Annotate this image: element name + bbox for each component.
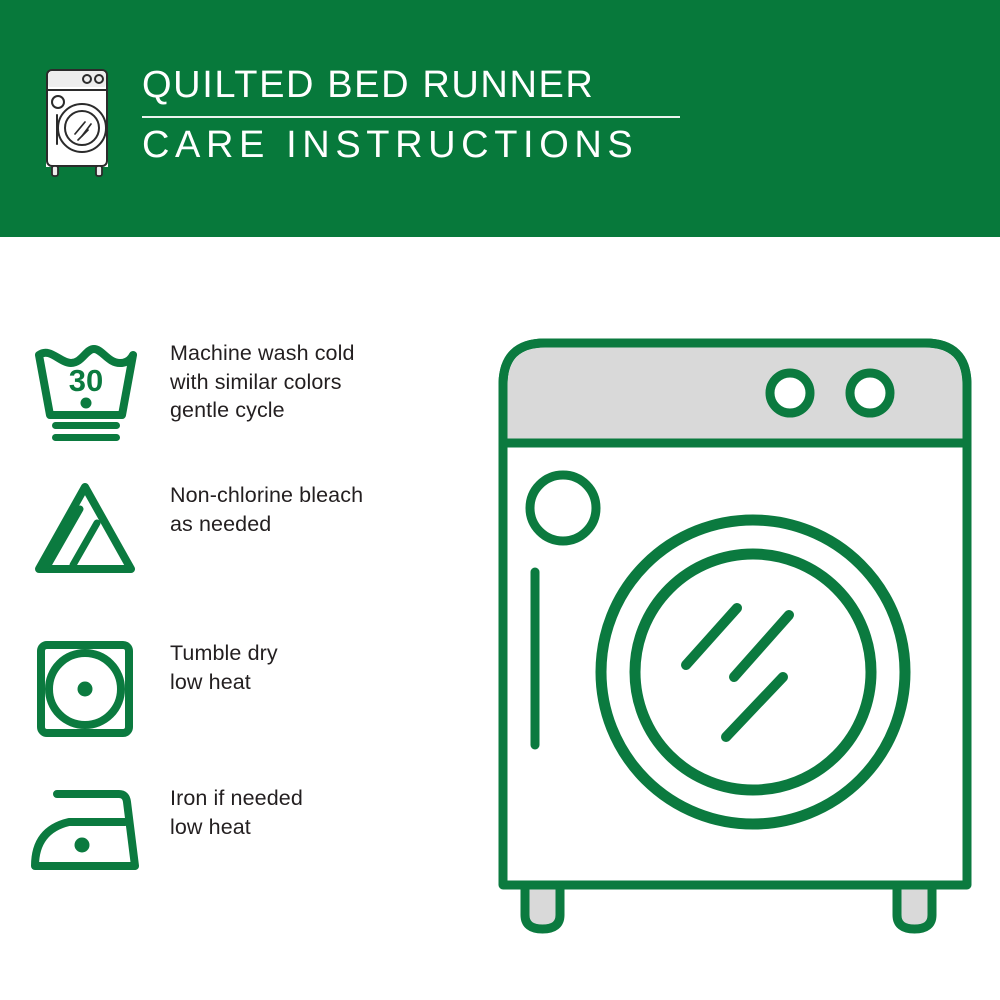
care-line: as needed	[170, 510, 470, 539]
dial	[530, 475, 596, 541]
care-text-iron: Iron if needed low heat	[170, 782, 470, 841]
wash-temperature-value: 30	[69, 363, 103, 398]
care-line: Tumble dry	[170, 639, 470, 668]
care-row-tumble-dry: Tumble dry low heat	[0, 637, 470, 741]
care-text-bleach: Non-chlorine bleach as needed	[170, 479, 470, 538]
leg-left	[525, 885, 560, 929]
page-title: QUILTED BED RUNNER	[142, 66, 702, 112]
care-row-wash: 30 Machine wash cold with similar colors…	[0, 337, 470, 445]
care-line: low heat	[170, 668, 470, 697]
header-banner: QUILTED BED RUNNER CARE INSTRUCTIONS	[0, 0, 1000, 237]
non-chlorine-bleach-triangle-icon	[0, 479, 170, 579]
care-row-iron: Iron if needed low heat	[0, 782, 470, 878]
care-instruction-list: 30 Machine wash cold with similar colors…	[0, 237, 470, 1000]
leg-right	[897, 885, 932, 929]
care-line: gentle cycle	[170, 396, 470, 425]
care-line: Iron if needed	[170, 784, 470, 813]
knob-right	[850, 373, 890, 413]
care-line: Non-chlorine bleach	[170, 481, 470, 510]
knob-left	[770, 373, 810, 413]
care-line: low heat	[170, 813, 470, 842]
tumble-dry-icon	[0, 637, 170, 741]
door-inner-ring	[635, 554, 871, 790]
care-row-bleach: Non-chlorine bleach as needed	[0, 479, 470, 579]
care-text-wash: Machine wash cold with similar colors ge…	[170, 337, 470, 425]
title-divider	[142, 116, 680, 118]
machine-wash-tub-icon: 30	[0, 337, 170, 445]
care-line: with similar colors	[170, 368, 470, 397]
iron-icon	[0, 782, 170, 878]
page-subtitle: CARE INSTRUCTIONS	[142, 126, 702, 164]
washing-machine-icon	[44, 66, 110, 178]
care-line: Machine wash cold	[170, 339, 470, 368]
front-load-washing-machine-illustration	[485, 325, 985, 935]
care-text-tumble-dry: Tumble dry low heat	[170, 637, 470, 696]
header-text-block: QUILTED BED RUNNER CARE INSTRUCTIONS	[142, 66, 702, 164]
care-instructions-infographic: QUILTED BED RUNNER CARE INSTRUCTIONS 30 …	[0, 0, 1000, 1000]
